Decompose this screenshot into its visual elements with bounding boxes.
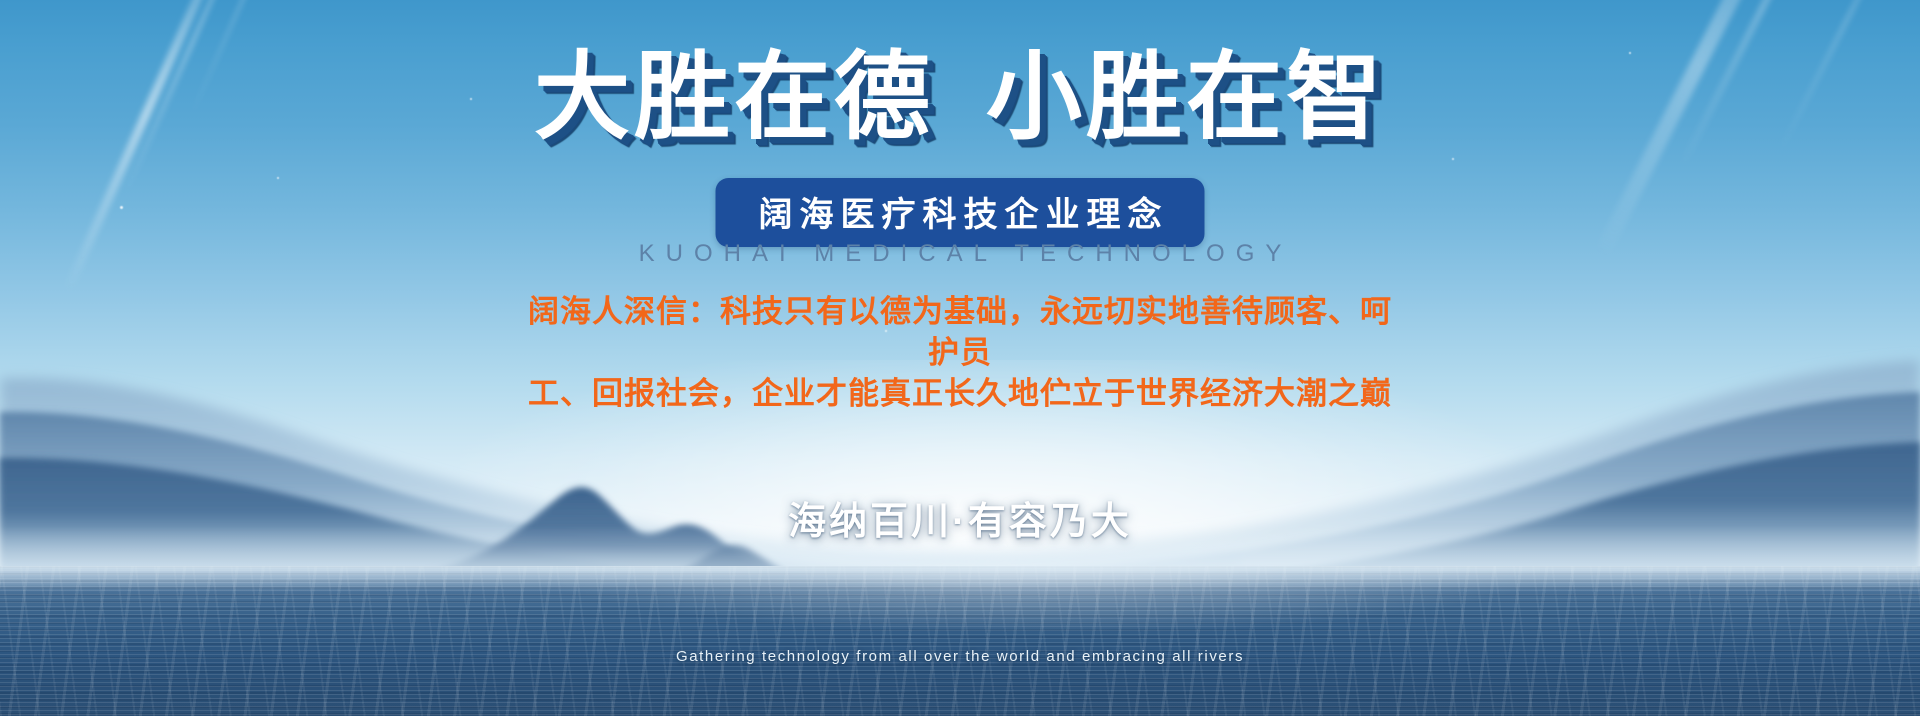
main-title-left: 大胜在德 bbox=[534, 44, 934, 151]
page-title: 大胜在德小胜在智 bbox=[0, 46, 1920, 150]
philosophy-statement: 阔海人深信：科技只有以德为基础，永远切实地善待顾客、呵护员 工、回报社会，企业才… bbox=[520, 292, 1400, 415]
banner-canvas: 大胜在德小胜在智 阔海医疗科技企业理念 KUOHAI MEDICAL TECHN… bbox=[0, 0, 1920, 716]
tagline-english: Gathering technology from all over the w… bbox=[0, 648, 1920, 665]
english-subtitle: KUOHAI MEDICAL TECHNOLOGY bbox=[0, 240, 1920, 268]
statement-line-2: 工、回报社会，企业才能真正长久地伫立于世界经济大潮之巅 bbox=[520, 374, 1400, 415]
tagline-chinese: 海纳百川·有容乃大 bbox=[0, 490, 1920, 545]
main-title-right: 小胜在智 bbox=[986, 44, 1386, 151]
statement-line-1: 阔海人深信：科技只有以德为基础，永远切实地善待顾客、呵护员 bbox=[520, 292, 1400, 374]
philosophy-badge: 阔海医疗科技企业理念 bbox=[716, 178, 1205, 247]
banner-content: 大胜在德小胜在智 阔海医疗科技企业理念 KUOHAI MEDICAL TECHN… bbox=[0, 0, 1920, 716]
